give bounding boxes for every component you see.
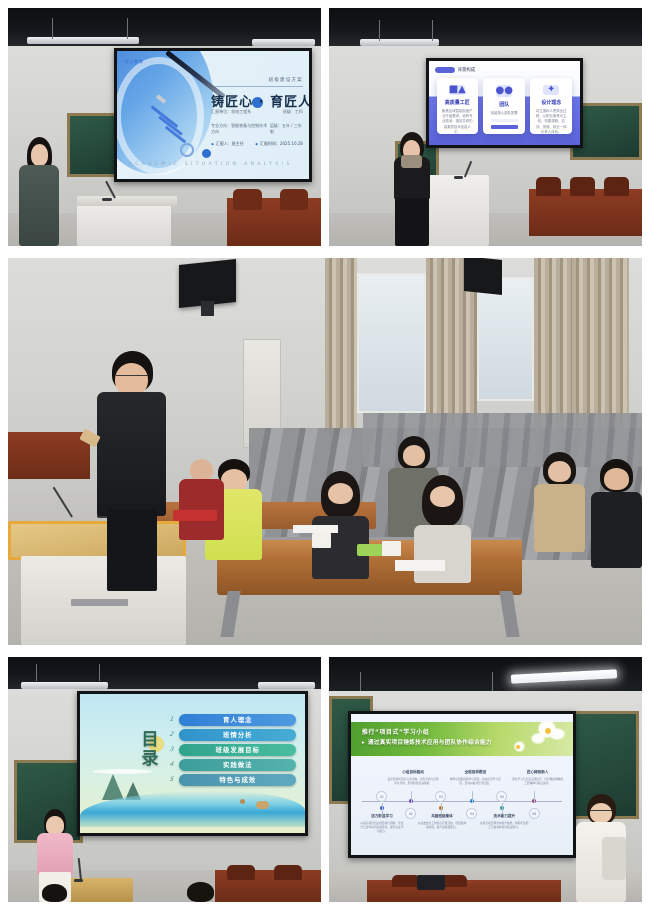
pink-vest [37, 833, 73, 876]
paper-cup [312, 533, 331, 548]
head [548, 461, 570, 482]
light-rod [99, 664, 100, 681]
toc-num-1: 1 [169, 716, 179, 723]
toc-num-5: 5 [169, 776, 179, 783]
jacket [414, 525, 471, 584]
slide-brand: 匠心教育 [125, 59, 143, 65]
meta-left-2: 专业方向：智能装备与控制技术方向 [211, 123, 270, 135]
banner-line-1: 推行“项目式”学习小组 [362, 727, 429, 736]
lectern-top [77, 196, 177, 206]
projection-screen-frame: 推行“项目式”学习小组 通过真实项目锤炼技术应用与团队协作综合能力 以真实项目为… [348, 711, 576, 858]
hair [187, 882, 215, 902]
toc-row-2[interactable]: 2 班情分析 [170, 729, 296, 741]
head [328, 483, 353, 505]
jacket [591, 492, 642, 568]
mist [93, 769, 152, 774]
paper-cup [382, 541, 401, 556]
slide-rule [215, 86, 303, 87]
bullet-left: 汇报人：班主任 [211, 141, 244, 147]
light-rod [52, 18, 53, 39]
toc-row-1[interactable]: 1 育人理念 [170, 714, 296, 726]
window [477, 277, 534, 401]
chair [227, 865, 255, 880]
timeline-stem-1 [382, 803, 383, 814]
collage-row-middle [8, 258, 642, 645]
slide-timeline: 推行“项目式”学习小组 通过真实项目锤炼技术应用与团队协作综合能力 以真实项目为… [351, 714, 573, 855]
curtain [325, 258, 357, 436]
ceiling-light [21, 682, 109, 689]
photo-top-left[interactable]: 匠心教育 班级建设方案 铸匠心 · 育匠人 · 筑匠梦 汇报单位：机电工程系 班… [8, 8, 321, 246]
projection-screen-frame: 目录 1 育人理念 2 班情分析 3 班级发展目标 [77, 691, 309, 836]
timeline-label-2: 小组目标驱动 [389, 770, 438, 775]
audience-person [591, 459, 642, 567]
toc-row-4[interactable]: 4 实践做法 [170, 759, 296, 771]
presenter [576, 794, 626, 902]
timeline-node-2[interactable]: 02 [405, 808, 416, 819]
toc-num-2: 2 [169, 731, 179, 738]
card-1-title: 高质量工匠 [445, 99, 470, 106]
presenter [17, 137, 61, 246]
sleeve [602, 837, 626, 880]
toc-label-5: 特色与成效 [179, 774, 296, 786]
glasses-icon [590, 810, 612, 814]
timeline-desc-5: 在真实项目场景中提升技能，帮助学生把工艺技术转化为职业能力。 [480, 821, 529, 829]
jacket [534, 484, 585, 552]
timeline-node-4[interactable]: 04 [466, 808, 477, 819]
daisy-center [516, 745, 520, 749]
head [604, 468, 628, 490]
chair [392, 875, 420, 887]
timeline-label-4: 全程指导跟进 [451, 770, 500, 775]
timeline-label-6: 匠心铸就新人 [513, 770, 562, 775]
notebook [293, 525, 337, 533]
daisy-petal [532, 734, 544, 743]
wall-speaker [464, 258, 502, 295]
timeline-label-5: 技术能力提升 [482, 814, 526, 819]
microphone-base [454, 176, 463, 179]
toc-label-1: 育人理念 [179, 714, 296, 726]
collage-row-top: 匠心教育 班级建设方案 铸匠心 · 育匠人 · 筑匠梦 汇报单位：机电工程系 班… [8, 8, 642, 246]
toc-num-4: 4 [169, 761, 179, 768]
audience-person [534, 452, 585, 553]
meta-left-1: 汇报单位：机电工程系 [211, 109, 251, 115]
decor-dot [202, 149, 211, 158]
slide-bullet-row: 汇报人：班主任 汇报时间：2025.10.28 [211, 141, 303, 147]
ceiling-light [360, 39, 438, 46]
timeline-label-1: 活力彰显学习 [360, 814, 404, 819]
toc-list: 1 育人理念 2 班情分析 3 班级发展目标 4 [170, 714, 296, 789]
collage-row-bottom: 目录 1 育人理念 2 班情分析 3 班级发展目标 [8, 657, 642, 902]
chair [233, 189, 261, 210]
photo-top-right[interactable]: 背景构成 ■▲ 高质量工匠 聚焦区域智能制造产业升级需求，培养专业精深、德技并修… [329, 8, 642, 246]
factory-icon: ■▲ [449, 85, 465, 95]
timeline-stem-3 [441, 803, 442, 814]
ox-illustration [256, 801, 269, 809]
window [357, 273, 427, 412]
photo-middle[interactable] [8, 258, 642, 645]
timeline-stem-4 [472, 791, 473, 802]
timeline-desc-1: 以真实项目为主线形成小组制，学生分工协作共同完成任务，提升自主学习能力。 [360, 821, 404, 833]
daisy-center [545, 728, 551, 734]
glasses-icon [116, 375, 148, 383]
card-2-body: 班级核心团队配置 [491, 111, 518, 116]
photo-bottom-left[interactable]: 目录 1 育人理念 2 班情分析 3 班级发展目标 [8, 657, 321, 902]
scarf [401, 155, 421, 169]
timeline-stem-2 [411, 791, 412, 802]
ox-head [240, 799, 245, 804]
card-group: ■▲ 高质量工匠 聚焦区域智能制造产业升级需求，培养专业精深、德技并修的高素质技… [437, 78, 572, 134]
timeline-stem-5 [502, 803, 503, 814]
light-rod [379, 20, 380, 41]
toc-row-5[interactable]: 5 特色与成效 [170, 774, 296, 786]
projection-screen-frame: 背景构成 ■▲ 高质量工匠 聚焦区域智能制造产业升级需求，培养专业精深、德技并修… [426, 58, 583, 148]
timeline-desc-3: 以班委会为工作核心开展活动，增强集体荣誉感，提升班级凝聚力。 [418, 821, 467, 829]
ceiling-light [252, 39, 315, 46]
card-3[interactable]: ✦ 设计理念 将立德树人贯穿全过程，以职业素养为主线，构建课程、实训、竞赛、就业… [530, 78, 572, 134]
audience-person [179, 455, 223, 540]
jacket [97, 392, 167, 517]
curtain [534, 258, 572, 436]
timeline-node-6[interactable]: 06 [529, 808, 540, 819]
speaker-person [97, 351, 167, 591]
slide-three-cards: 背景构成 ■▲ 高质量工匠 聚焦区域智能制造产业升级需求，培养专业精深、德技并修… [429, 61, 580, 145]
speaker-bracket [201, 301, 214, 316]
side-cabinet [8, 432, 90, 478]
toc-heading: 目录 [139, 730, 156, 768]
meta-right-2: 层级：五年 / 三年制 [270, 123, 303, 135]
red-folder [173, 510, 217, 522]
slide-footer: ACADEMIC SITUATION ANALYSIS [129, 162, 293, 167]
section-tag [435, 67, 455, 73]
section-title: 背景构成 [458, 67, 476, 73]
meta-right-1: 班级：工科 [283, 109, 303, 115]
timeline-label-3: 共建班级集体 [420, 814, 464, 819]
chair [570, 177, 595, 196]
team-icon: ●● [496, 85, 512, 97]
slide-meta-row-1: 汇报单位：机电工程系 班级：工科 [211, 109, 303, 115]
curtain [572, 258, 629, 428]
slide-kicker: 班级建设方案 [269, 77, 303, 83]
photo-bottom-right[interactable]: 推行“项目式”学习小组 通过真实项目锤炼技术应用与团队协作综合能力 以真实项目为… [329, 657, 642, 902]
bag-on-table [417, 875, 445, 890]
toc-label-4: 实践做法 [179, 759, 296, 771]
slide-meta-row-2: 专业方向：智能装备与控制技术方向 层级：五年 / 三年制 [211, 123, 303, 135]
coat [19, 165, 59, 246]
card-2-bar-1 [491, 119, 518, 122]
slide-toc: 目录 1 育人理念 2 班情分析 3 班级发展目标 [80, 694, 306, 833]
light-rod [432, 20, 433, 41]
mountain [102, 774, 124, 800]
banner-line-2: 通过真实项目锤炼技术应用与团队协作综合能力 [362, 738, 492, 746]
head [221, 469, 247, 491]
slide-main-title: 铸匠心 · 育匠人 · 筑匠梦 [211, 91, 303, 110]
audience-head-foreground [39, 880, 70, 902]
chair [274, 865, 302, 880]
bullet-right: 汇报时间：2025.10.28 [255, 141, 303, 147]
presenter [392, 132, 433, 246]
timeline-desc-6: 通过学习与企业实践结合，培育精益求精的工匠精神与职业素养。 [511, 777, 564, 785]
card-1-body: 聚焦区域智能制造产业升级需求，培养专业精深、德技并修的高素质技术技能人才。 [441, 109, 475, 135]
timeline-desc-2: 设定阶段性目标与交付物，过程考核与结果评价并重，形成持续改进机制。 [386, 777, 439, 785]
target-icon: ✦ [543, 85, 559, 95]
trousers [107, 509, 157, 591]
head [403, 445, 425, 466]
chair [536, 177, 561, 196]
timeline-stem-6 [534, 791, 535, 802]
card-3-body: 将立德树人贯穿全过程，以职业素养为主线，构建课程、实训、竞赛、就业一体化育人体系… [534, 109, 568, 135]
toc-num-3: 3 [169, 746, 179, 753]
microphone-base [74, 879, 83, 882]
card-2-title: 团队 [499, 101, 509, 108]
head [430, 486, 455, 508]
head [190, 459, 213, 481]
audience-head-foreground [183, 878, 217, 903]
head [31, 144, 49, 166]
light-rod [36, 664, 37, 681]
ceiling-light [258, 682, 314, 689]
timeline-desc-4: 教师全程跟踪指导与答疑，动态记录学习表现，及时纠偏并给予反馈。 [449, 777, 502, 785]
card-3-title: 设计理念 [541, 99, 561, 106]
toc-label-3: 班级发展目标 [179, 744, 296, 756]
card-1[interactable]: ■▲ 高质量工匠 聚焦区域智能制造产业升级需求，培养专业精深、德技并修的高素质技… [437, 78, 479, 134]
notebook [395, 560, 446, 572]
hair [42, 884, 67, 902]
light-rod [127, 18, 128, 39]
card-2-bar-2 [491, 125, 518, 128]
chair [280, 189, 308, 210]
toc-row-3[interactable]: 3 班级发展目标 [170, 744, 296, 756]
skirt [395, 198, 429, 246]
photo-collage: 匠心教育 班级建设方案 铸匠心 · 育匠人 · 筑匠梦 汇报单位：机电工程系 班… [0, 0, 650, 910]
conference-table [529, 189, 642, 237]
ceiling-light [27, 37, 140, 44]
podium-handle [71, 599, 128, 607]
projection-screen-frame: 匠心教育 班级建设方案 铸匠心 · 育匠人 · 筑匠梦 汇报单位：机电工程系 班… [114, 48, 311, 181]
chair [604, 177, 629, 196]
toc-label-2: 班情分析 [179, 729, 296, 741]
slide-title: 匠心教育 班级建设方案 铸匠心 · 育匠人 · 筑匠梦 汇报单位：机电工程系 班… [117, 51, 308, 178]
microphone-base [102, 198, 112, 201]
card-2[interactable]: ●● 团队 班级核心团队配置 [483, 78, 525, 134]
